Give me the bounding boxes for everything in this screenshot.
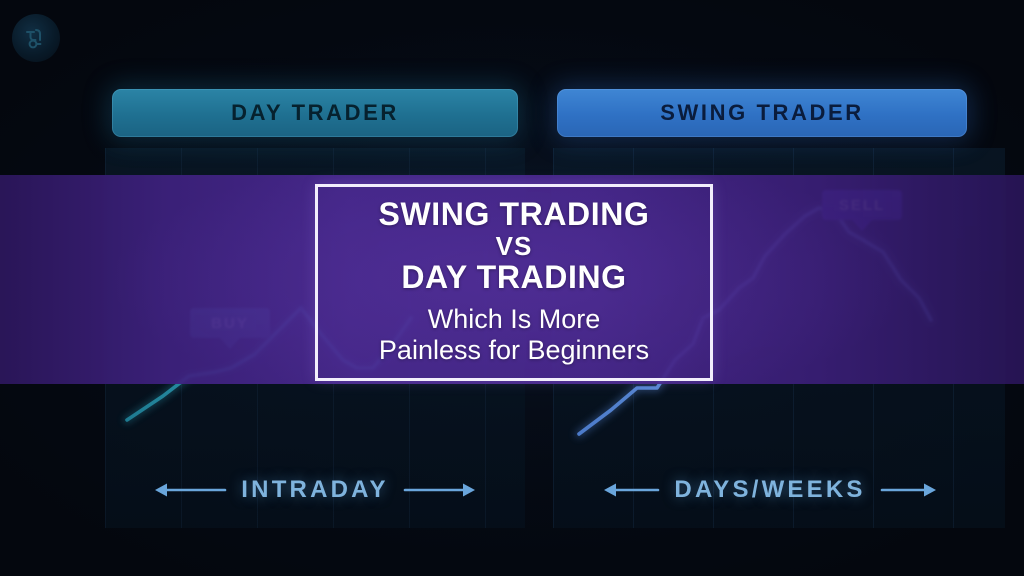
subtitle-line-1: Which Is More [428,304,601,336]
title-vs: VS [496,232,533,261]
swing-trader-button[interactable]: SWING TRADER [557,89,967,137]
daysweeks-label: DAYS/WEEKS [674,476,865,504]
intraday-label: INTRADAY [241,476,388,504]
monogram-icon [21,23,51,53]
arrow-right-icon [880,481,938,499]
title-frame: SWING TRADING VS DAY TRADING Which Is Mo… [315,184,713,381]
title-line-1: SWING TRADING [379,198,650,232]
subtitle-line-2: Painless for Beginners [379,335,649,367]
arrow-left-icon [153,481,227,499]
intraday-timeframe: INTRADAY [130,473,500,507]
arrow-left-icon [602,481,660,499]
title-line-2: DAY TRADING [401,261,626,295]
day-trader-label: DAY TRADER [231,100,399,126]
poster-canvas: BUY SELL DAY TRADER SWING TRADER INTRADA… [0,0,1024,576]
day-trader-button[interactable]: DAY TRADER [112,89,518,137]
brand-logo[interactable] [12,14,60,62]
swing-trader-label: SWING TRADER [660,100,864,126]
arrow-right-icon [403,481,477,499]
daysweeks-timeframe: DAYS/WEEKS [585,473,955,507]
